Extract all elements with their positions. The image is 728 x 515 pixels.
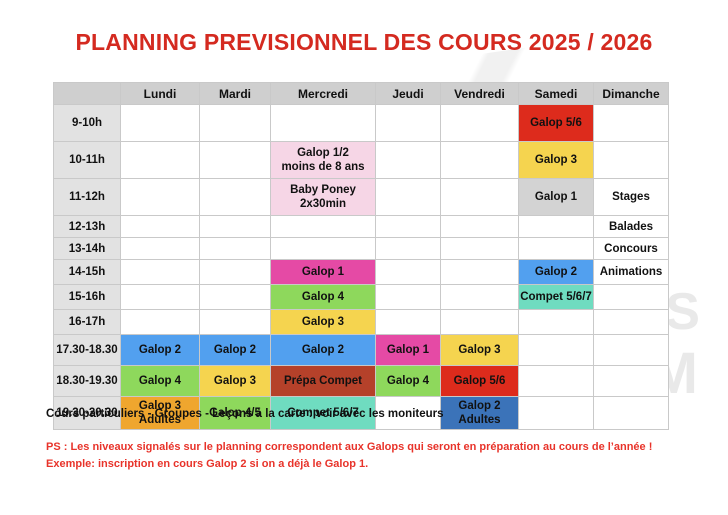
table-corner-cell: [54, 83, 121, 105]
course-cell-dimanche[interactable]: Concours: [594, 238, 669, 260]
course-cell-samedi[interactable]: Galop 1: [519, 179, 594, 216]
empty-cell-jeudi: [376, 179, 441, 216]
table-row: 11-12hBaby Poney2x30minGalop 1Stages: [54, 179, 669, 216]
empty-cell-dimanche: [594, 310, 669, 335]
empty-cell-mercredi: [271, 105, 376, 142]
time-slot-label: 16-17h: [54, 310, 121, 335]
time-slot-label: 10-11h: [54, 142, 121, 179]
day-header-samedi: Samedi: [519, 83, 594, 105]
table-row: 9-10hGalop 5/6: [54, 105, 669, 142]
empty-cell-vendredi: [441, 216, 519, 238]
empty-cell-mercredi: [271, 238, 376, 260]
empty-cell-vendredi: [441, 179, 519, 216]
empty-cell-samedi: [519, 216, 594, 238]
empty-cell-samedi: [519, 335, 594, 366]
empty-cell-dimanche: [594, 397, 669, 430]
empty-cell-lundi: [121, 142, 200, 179]
empty-cell-lundi: [121, 310, 200, 335]
empty-cell-jeudi: [376, 238, 441, 260]
empty-cell-jeudi: [376, 142, 441, 179]
course-cell-line: moins de 8 ans: [271, 160, 375, 174]
empty-cell-dimanche: [594, 335, 669, 366]
note-ps-line-2: Exemple: inscription en cours Galop 2 si…: [46, 456, 652, 473]
empty-cell-lundi: [121, 260, 200, 285]
table-row: 15-16hGalop 4Compet 5/6/7: [54, 285, 669, 310]
note-ps: PS : Les niveaux signalés sur le plannin…: [46, 439, 652, 473]
course-cell-samedi[interactable]: Galop 2: [519, 260, 594, 285]
course-cell-samedi[interactable]: Galop 5/6: [519, 105, 594, 142]
empty-cell-samedi: [519, 310, 594, 335]
empty-cell-vendredi: [441, 260, 519, 285]
course-cell-mercredi[interactable]: Galop 1/2moins de 8 ans: [271, 142, 376, 179]
empty-cell-mardi: [200, 285, 271, 310]
day-header-lundi: Lundi: [121, 83, 200, 105]
course-cell-dimanche[interactable]: Animations: [594, 260, 669, 285]
empty-cell-lundi: [121, 179, 200, 216]
empty-cell-mardi: [200, 142, 271, 179]
empty-cell-dimanche: [594, 105, 669, 142]
empty-cell-dimanche: [594, 366, 669, 397]
empty-cell-vendredi: [441, 285, 519, 310]
table-row: 10-11hGalop 1/2moins de 8 ansGalop 3: [54, 142, 669, 179]
empty-cell-samedi: [519, 238, 594, 260]
empty-cell-mardi: [200, 216, 271, 238]
empty-cell-mardi: [200, 260, 271, 285]
empty-cell-lundi: [121, 105, 200, 142]
time-slot-label: 17.30-18.30: [54, 335, 121, 366]
empty-cell-jeudi: [376, 310, 441, 335]
empty-cell-samedi: [519, 366, 594, 397]
empty-cell-vendredi: [441, 142, 519, 179]
time-slot-label: 15-16h: [54, 285, 121, 310]
note-private-lessons: Cours particuliers - Groupes - Leçons à …: [46, 408, 444, 420]
table-row: 17.30-18.30Galop 2Galop 2Galop 2Galop 1G…: [54, 335, 669, 366]
time-slot-label: 18.30-19.30: [54, 366, 121, 397]
day-header-mercredi: Mercredi: [271, 83, 376, 105]
day-header-jeudi: Jeudi: [376, 83, 441, 105]
empty-cell-vendredi: [441, 105, 519, 142]
course-cell-line: 2x30min: [271, 197, 375, 211]
course-cell-vendredi[interactable]: Galop 5/6: [441, 366, 519, 397]
planning-body: 9-10hGalop 5/610-11hGalop 1/2moins de 8 …: [54, 105, 669, 430]
time-slot-label: 14-15h: [54, 260, 121, 285]
course-cell-lundi[interactable]: Galop 4: [121, 366, 200, 397]
table-row: 12-13hBalades: [54, 216, 669, 238]
time-slot-label: 9-10h: [54, 105, 121, 142]
course-cell-lundi[interactable]: Galop 2: [121, 335, 200, 366]
course-cell-line: Galop 2: [441, 399, 518, 413]
table-row: 16-17hGalop 3: [54, 310, 669, 335]
course-cell-line: Baby Poney: [271, 183, 375, 197]
course-cell-samedi[interactable]: Galop 3: [519, 142, 594, 179]
time-slot-label: 13-14h: [54, 238, 121, 260]
empty-cell-mercredi: [271, 216, 376, 238]
day-header-dimanche: Dimanche: [594, 83, 669, 105]
table-header-row: LundiMardiMercrediJeudiVendrediSamediDim…: [54, 83, 669, 105]
empty-cell-mardi: [200, 179, 271, 216]
empty-cell-lundi: [121, 238, 200, 260]
course-cell-mercredi[interactable]: Galop 3: [271, 310, 376, 335]
course-cell-line: Galop 1/2: [271, 146, 375, 160]
course-cell-jeudi[interactable]: Galop 4: [376, 366, 441, 397]
empty-cell-vendredi: [441, 310, 519, 335]
course-cell-mardi[interactable]: Galop 2: [200, 335, 271, 366]
course-cell-dimanche[interactable]: Stages: [594, 179, 669, 216]
planning-table: LundiMardiMercrediJeudiVendrediSamediDim…: [53, 82, 669, 430]
note-ps-line-1: PS : Les niveaux signalés sur le plannin…: [46, 439, 652, 456]
empty-cell-jeudi: [376, 216, 441, 238]
time-slot-label: 11-12h: [54, 179, 121, 216]
table-row: 18.30-19.30Galop 4Galop 3Prépa CompetGal…: [54, 366, 669, 397]
empty-cell-jeudi: [376, 260, 441, 285]
course-cell-mardi[interactable]: Galop 3: [200, 366, 271, 397]
empty-cell-samedi: [519, 397, 594, 430]
empty-cell-lundi: [121, 285, 200, 310]
empty-cell-mardi: [200, 310, 271, 335]
empty-cell-mardi: [200, 105, 271, 142]
course-cell-mercredi[interactable]: Galop 1: [271, 260, 376, 285]
course-cell-mercredi[interactable]: Galop 4: [271, 285, 376, 310]
empty-cell-lundi: [121, 216, 200, 238]
course-cell-samedi[interactable]: Compet 5/6/7: [519, 285, 594, 310]
empty-cell-jeudi: [376, 105, 441, 142]
empty-cell-dimanche: [594, 285, 669, 310]
empty-cell-jeudi: [376, 285, 441, 310]
empty-cell-vendredi: [441, 238, 519, 260]
day-header-mardi: Mardi: [200, 83, 271, 105]
day-header-vendredi: Vendredi: [441, 83, 519, 105]
table-row: 14-15hGalop 1Galop 2Animations: [54, 260, 669, 285]
planning-table-container: LundiMardiMercrediJeudiVendrediSamediDim…: [53, 82, 668, 430]
course-cell-jeudi[interactable]: Galop 1: [376, 335, 441, 366]
empty-cell-mardi: [200, 238, 271, 260]
page-title: PLANNING PREVISIONNEL DES COURS 2025 / 2…: [0, 29, 728, 56]
course-cell-vendredi[interactable]: Galop 2Adultes: [441, 397, 519, 430]
course-cell-dimanche[interactable]: Balades: [594, 216, 669, 238]
time-slot-label: 12-13h: [54, 216, 121, 238]
course-cell-mercredi[interactable]: Prépa Compet: [271, 366, 376, 397]
course-cell-mercredi[interactable]: Baby Poney2x30min: [271, 179, 376, 216]
course-cell-vendredi[interactable]: Galop 3: [441, 335, 519, 366]
table-row: 13-14hConcours: [54, 238, 669, 260]
empty-cell-dimanche: [594, 142, 669, 179]
course-cell-mercredi[interactable]: Galop 2: [271, 335, 376, 366]
course-cell-line: Adultes: [441, 413, 518, 427]
